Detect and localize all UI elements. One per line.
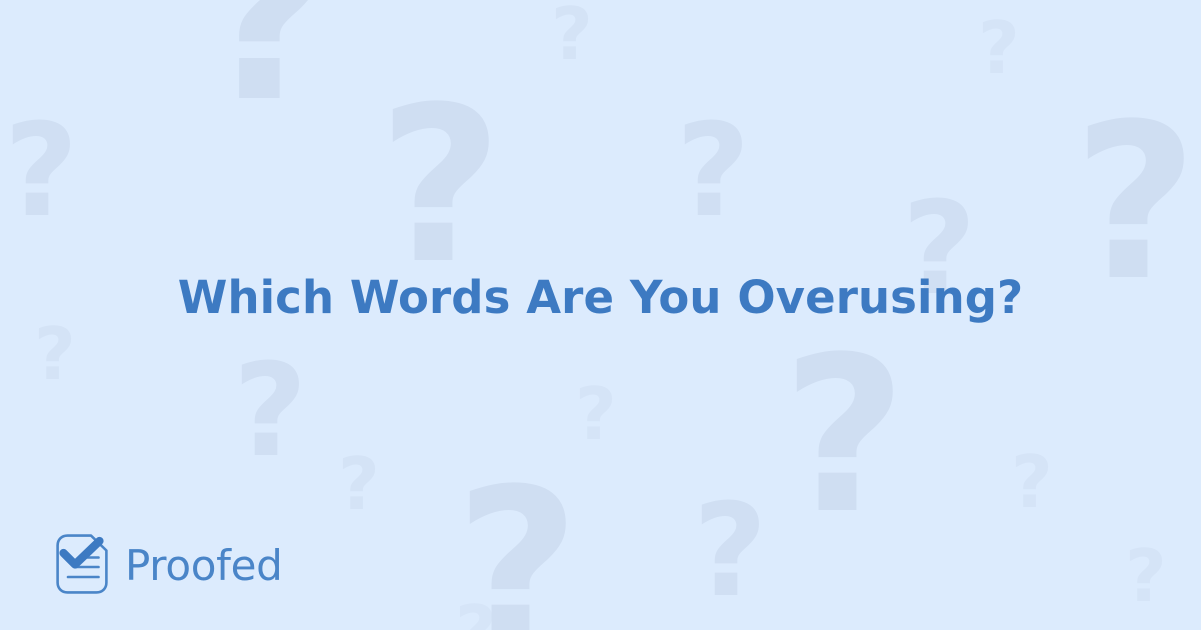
social-card: ?????????????????? Which Words Are You O… xyxy=(0,0,1201,630)
page-title: Which Words Are You Overusing? xyxy=(118,271,1083,324)
proofed-logo[interactable]: Proofed xyxy=(55,533,283,595)
document-check-icon xyxy=(55,533,109,595)
logo-wordmark: Proofed xyxy=(125,545,283,587)
